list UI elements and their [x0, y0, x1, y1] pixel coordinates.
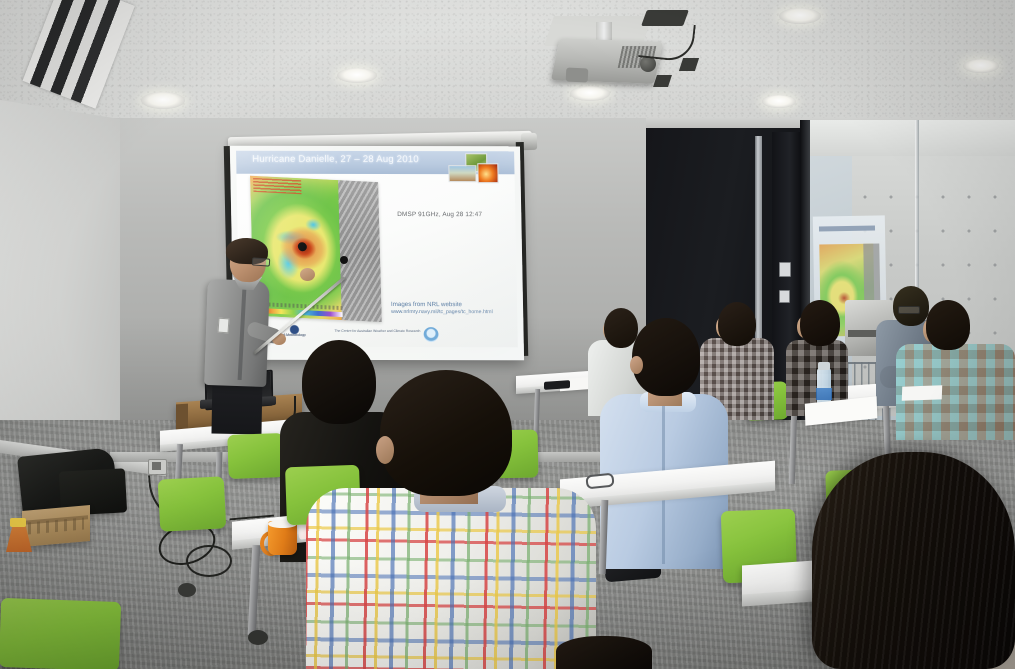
downlight-icon: [337, 68, 377, 83]
attendee-head: [302, 340, 376, 424]
attendee-head: [632, 318, 700, 396]
light-switch[interactable]: [779, 262, 791, 277]
name-badge: [217, 318, 229, 334]
image-header-text: [253, 178, 301, 194]
attendee-ear: [630, 356, 643, 374]
presenter-hand: [300, 268, 315, 281]
hair-strand-texture: [812, 452, 1015, 669]
coiled-cable: [186, 545, 232, 577]
power-outlet-socket: [152, 462, 161, 470]
green-chair[interactable]: [227, 433, 285, 479]
attendee-head: [556, 636, 652, 669]
projector-lens-icon: [566, 67, 589, 82]
corridor-ceiling: [800, 120, 1015, 156]
green-chair[interactable]: [158, 476, 227, 531]
light-switch[interactable]: [779, 290, 790, 303]
table-caster: [178, 583, 196, 597]
bottle-cap: [818, 362, 830, 370]
slide-credit-line-2: www.nrlmry.navy.mil/tc_pages/tc_home.htm…: [391, 309, 493, 315]
downlight-icon: [570, 86, 610, 101]
slide-caption: DMSP 91GHz, Aug 28 12:47: [397, 211, 507, 218]
cone-band: [10, 518, 26, 527]
pointer-tip: [340, 256, 348, 264]
bottle-label: [816, 388, 832, 400]
downlight-icon: [762, 95, 796, 108]
glasses-icon: [898, 306, 920, 314]
attendee-head: [926, 300, 970, 350]
downlight-icon: [141, 92, 185, 109]
fire-thumbnail-icon: [477, 163, 498, 183]
glasses-icon: [252, 257, 271, 266]
slide-title: Hurricane Danielle, 27 – 28 Aug 2010: [252, 154, 462, 165]
reflected-title-bar: [819, 226, 875, 232]
attendee-body: [306, 488, 596, 669]
satellite-swath-edge: [338, 180, 382, 322]
downlight-icon: [963, 59, 999, 73]
green-chair[interactable]: [0, 598, 121, 669]
coastline-thumbnail-icon: [448, 165, 476, 182]
presentation-slide: Hurricane Danielle, 27 – 28 Aug 2010 DMS…: [236, 151, 518, 347]
partner-logo-mark: [423, 327, 438, 342]
downlight-icon: [779, 8, 821, 24]
attendee-head: [604, 308, 638, 348]
partner-logo-text: The Centre for Australian Weather and Cl…: [334, 329, 420, 334]
ceiling-tile-texture: [0, 0, 1015, 132]
podium-side: [176, 404, 188, 431]
hurricane-eye-marker: [298, 242, 307, 251]
attendee-head: [800, 300, 840, 346]
slide-credit-line-1: Images from NRL website: [391, 301, 462, 308]
seminar-room-photo: Hurricane Danielle, 27 – 28 Aug 2010 DMS…: [0, 0, 1015, 669]
attendee-ear: [376, 436, 394, 464]
table-caster: [248, 630, 268, 645]
attendee-head: [718, 302, 756, 346]
attendee-head: [380, 370, 512, 496]
paper-sheet: [902, 385, 942, 400]
